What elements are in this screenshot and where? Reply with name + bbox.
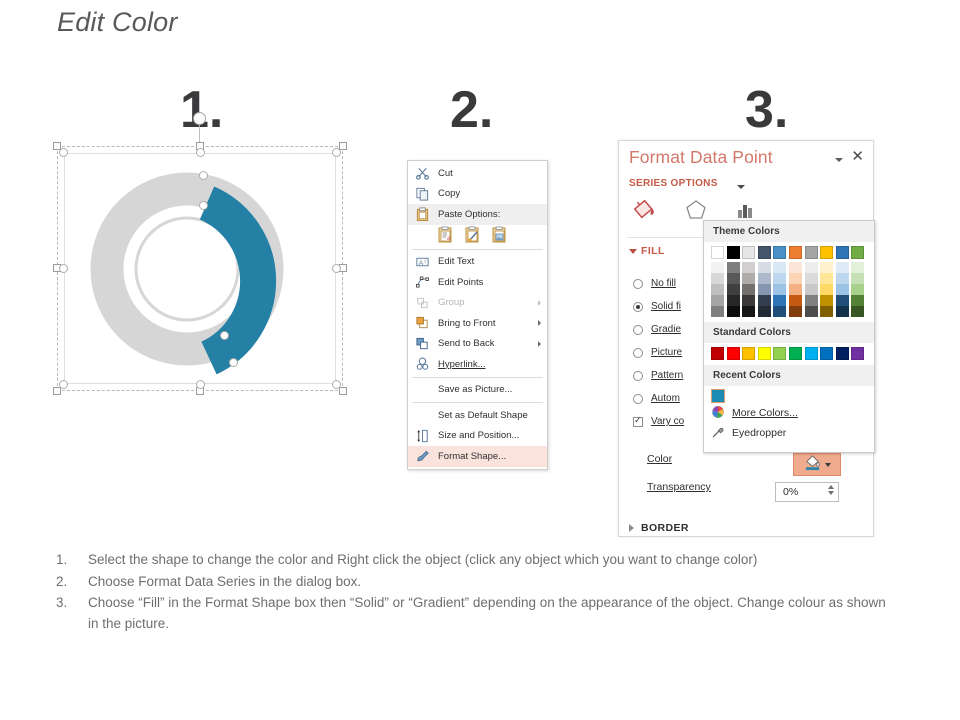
recent-colors-header: Recent Colors <box>704 365 874 386</box>
resize-handle-bottom-right[interactable] <box>339 387 347 395</box>
context-menu-item-save-as-picture[interactable]: Save as Picture... <box>408 380 547 401</box>
svg-text:A: A <box>419 260 424 267</box>
context-menu-label: Save as Picture... <box>438 384 512 395</box>
theme-color-shade-2-7[interactable] <box>820 284 833 295</box>
theme-color-shade-3-1[interactable] <box>727 295 740 306</box>
context-menu-item-edit-text[interactable]: A Edit Text <box>408 252 547 273</box>
standard-colors-grid[interactable] <box>704 343 874 362</box>
datapoint-handle-arc-end-outer[interactable] <box>229 358 238 367</box>
theme-color-swatch-2[interactable] <box>742 246 755 259</box>
fill-option-label: No fill <box>651 278 676 289</box>
inner-handle-bottom-right[interactable] <box>332 380 341 389</box>
theme-color-shade-row-2[interactable] <box>711 284 874 295</box>
fill-option-label: Solid fi <box>651 301 681 312</box>
theme-color-shade-4-8[interactable] <box>836 306 849 317</box>
theme-color-shade-1-2[interactable] <box>742 273 755 284</box>
vary-colors-by-point-checkbox[interactable]: Vary co <box>651 416 684 427</box>
paste-keep-source-formatting-icon[interactable]: a <box>436 226 454 244</box>
fill-option-label: Autom <box>651 393 680 404</box>
theme-color-shade-0-0[interactable] <box>711 262 724 273</box>
theme-colors-header: Theme Colors <box>704 221 874 242</box>
radio-icon[interactable] <box>633 394 643 404</box>
hyperlink-icon <box>415 357 430 372</box>
context-menu-item-copy[interactable]: Copy <box>408 184 547 205</box>
theme-color-swatch-3[interactable] <box>758 246 771 259</box>
theme-color-shade-3-6[interactable] <box>805 295 818 306</box>
context-menu[interactable]: Cut Copy Paste Options: <box>407 160 548 470</box>
bring-to-front-icon <box>415 316 430 331</box>
context-menu-item-hyperlink[interactable]: Hyperlink... <box>408 354 547 375</box>
theme-color-shade-1-4[interactable] <box>773 273 786 284</box>
radio-icon[interactable] <box>633 279 643 289</box>
context-menu-label: Send to Back <box>438 338 495 349</box>
fill-bucket-icon[interactable] <box>633 197 659 228</box>
theme-color-shade-row-3[interactable] <box>711 295 874 306</box>
context-menu-label: Group <box>438 297 464 308</box>
context-menu-item-edit-points[interactable]: Edit Points <box>408 272 547 293</box>
fill-option-automatic[interactable]: Autom <box>651 393 680 404</box>
fill-option-gradient-fill[interactable]: Gradie <box>651 324 681 335</box>
datapoint-handle-arc-start-outer[interactable] <box>199 171 208 180</box>
context-menu-label: Edit Text <box>438 256 474 267</box>
theme-colors-base-row[interactable] <box>711 246 874 259</box>
theme-color-shade-4-3[interactable] <box>758 306 771 317</box>
chevron-down-icon[interactable] <box>835 158 843 162</box>
chevron-right-icon <box>538 320 541 326</box>
context-menu-label: Paste Options: <box>438 209 500 220</box>
fill-option-label: Pattern <box>651 370 683 381</box>
theme-color-shade-4-9[interactable] <box>851 306 864 317</box>
theme-color-shade-1-3[interactable] <box>758 273 771 284</box>
eyedropper-item[interactable]: Eyedropper <box>704 423 874 443</box>
theme-color-shade-4-4[interactable] <box>773 306 786 317</box>
theme-color-shade-3-7[interactable] <box>820 295 833 306</box>
pane-title: Format Data Point <box>629 147 773 168</box>
paste-icon <box>415 207 430 222</box>
edit-points-icon <box>415 275 430 290</box>
theme-color-shade-1-1[interactable] <box>727 273 740 284</box>
context-menu-label: Size and Position... <box>438 430 519 441</box>
context-menu-label: Copy <box>438 188 460 199</box>
group-icon <box>415 295 430 310</box>
rotate-handle[interactable] <box>193 112 206 125</box>
recent-color-swatch[interactable] <box>711 389 725 403</box>
donut-chart-selection[interactable] <box>57 146 343 391</box>
radio-selected-icon[interactable] <box>633 302 643 312</box>
send-to-back-icon <box>415 336 430 351</box>
context-menu-item-group: Group <box>408 293 547 314</box>
theme-color-shade-2-5[interactable] <box>789 284 802 295</box>
theme-color-swatch-9[interactable] <box>851 246 864 259</box>
more-colors-label: More Colors... <box>732 407 798 419</box>
theme-color-shade-row-1[interactable] <box>711 273 874 284</box>
chevron-right-icon <box>538 341 541 347</box>
border-section-expand-icon[interactable] <box>629 524 634 532</box>
standard-color-swatch-3[interactable] <box>758 347 771 360</box>
instruction-number: 1. <box>56 550 88 571</box>
radio-icon[interactable] <box>633 371 643 381</box>
fill-option-solid-fill[interactable]: Solid fi <box>651 301 681 312</box>
donut-slice-highlighted <box>207 203 258 358</box>
theme-color-shade-0-3[interactable] <box>758 262 771 273</box>
fill-section-expand-icon[interactable] <box>629 249 637 254</box>
chevron-right-icon <box>538 300 541 306</box>
more-colors-icon <box>711 405 725 422</box>
eyedropper-label: Eyedropper <box>732 427 786 439</box>
paste-picture-icon[interactable] <box>490 226 508 244</box>
standard-color-swatch-8[interactable] <box>836 347 849 360</box>
inner-handle-middle-right[interactable] <box>332 264 341 273</box>
standard-colors-row[interactable] <box>711 347 874 360</box>
context-menu-item-cut[interactable]: Cut <box>408 163 547 184</box>
theme-color-swatch-1[interactable] <box>727 246 740 259</box>
fill-color-button[interactable] <box>793 453 841 476</box>
theme-color-shade-4-0[interactable] <box>711 306 724 317</box>
theme-color-shade-2-9[interactable] <box>851 284 864 295</box>
theme-color-shade-2-8[interactable] <box>836 284 849 295</box>
context-menu-item-set-as-default-shape[interactable]: Set as Default Shape <box>408 405 547 426</box>
context-menu-item-bring-to-front[interactable]: Bring to Front <box>408 313 547 334</box>
theme-colors-shade-rows[interactable] <box>711 262 874 317</box>
theme-color-swatch-8[interactable] <box>836 246 849 259</box>
format-shape-icon <box>415 449 430 464</box>
theme-color-swatch-7[interactable] <box>820 246 833 259</box>
size-position-icon <box>415 428 430 443</box>
theme-color-shade-2-3[interactable] <box>758 284 771 295</box>
vary-colors-label: Vary co <box>651 416 684 427</box>
theme-color-shade-4-5[interactable] <box>789 306 802 317</box>
theme-color-shade-3-4[interactable] <box>773 295 786 306</box>
theme-color-shade-0-1[interactable] <box>727 262 740 273</box>
fill-option-label: Picture <box>651 347 682 358</box>
instruction-number: 3. <box>56 593 88 634</box>
fill-section-header[interactable]: FILL <box>641 245 665 257</box>
close-icon[interactable]: ✕ <box>851 149 864 164</box>
spinner-down-icon[interactable] <box>828 491 834 495</box>
theme-color-shade-2-0[interactable] <box>711 284 724 295</box>
instruction-number: 2. <box>56 572 88 593</box>
context-menu-separator <box>412 402 543 403</box>
theme-color-shade-1-7[interactable] <box>820 273 833 284</box>
theme-color-shade-0-2[interactable] <box>742 262 755 273</box>
donut-chart-svg <box>57 146 343 391</box>
color-row-label: Color <box>647 453 672 465</box>
instruction-item: 1. Select the shape to change the color … <box>56 550 886 571</box>
theme-color-shade-1-0[interactable] <box>711 273 724 284</box>
spinner-up-icon[interactable] <box>828 485 834 489</box>
context-menu-item-paste-options: Paste Options: <box>408 204 547 225</box>
inner-handle-bottom-center[interactable] <box>196 380 205 389</box>
theme-color-shade-0-5[interactable] <box>789 262 802 273</box>
theme-color-shade-3-2[interactable] <box>742 295 755 306</box>
more-colors-item[interactable]: More Colors... <box>704 403 874 423</box>
theme-color-swatch-6[interactable] <box>805 246 818 259</box>
instruction-item: 3. Choose “Fill” in the Format Shape box… <box>56 593 886 634</box>
recent-colors-grid[interactable] <box>704 386 874 403</box>
theme-color-shade-1-8[interactable] <box>836 273 849 284</box>
theme-color-shade-3-3[interactable] <box>758 295 771 306</box>
theme-color-shade-3-8[interactable] <box>836 295 849 306</box>
paste-merge-formatting-icon[interactable] <box>463 226 481 244</box>
theme-color-shade-0-7[interactable] <box>820 262 833 273</box>
context-menu-item-send-to-back[interactable]: Send to Back <box>408 334 547 355</box>
instructions-list: 1. Select the shape to change the color … <box>56 550 886 635</box>
standard-color-swatch-0[interactable] <box>711 347 724 360</box>
theme-color-swatch-0[interactable] <box>711 246 724 259</box>
series-options-label[interactable]: SERIES OPTIONS <box>629 178 718 189</box>
theme-color-shade-2-6[interactable] <box>805 284 818 295</box>
theme-color-shade-row-4[interactable] <box>711 306 874 317</box>
paste-options-row[interactable]: a <box>408 225 547 247</box>
step-number-1: 1. <box>180 84 223 136</box>
context-menu-separator <box>412 249 543 250</box>
standard-color-swatch-6[interactable] <box>805 347 818 360</box>
copy-icon <box>415 186 430 201</box>
step-number-3: 3. <box>745 84 788 136</box>
context-menu-label: Set as Default Shape <box>438 410 528 421</box>
theme-color-shade-2-4[interactable] <box>773 284 786 295</box>
fill-color-icon <box>803 454 822 476</box>
edit-text-icon: A <box>415 254 430 269</box>
scissors-icon <box>415 166 430 181</box>
inner-handle-top-left[interactable] <box>59 148 68 157</box>
page-title: Edit Color <box>57 7 178 38</box>
series-options-chevron-down-icon[interactable] <box>737 185 745 189</box>
theme-color-swatch-5[interactable] <box>789 246 802 259</box>
radio-icon[interactable] <box>633 325 643 335</box>
theme-color-shade-3-0[interactable] <box>711 295 724 306</box>
context-menu-item-format-shape[interactable]: Format Shape... <box>408 446 547 467</box>
theme-color-swatch-4[interactable] <box>773 246 786 259</box>
theme-color-shade-0-4[interactable] <box>773 262 786 273</box>
context-menu-label: Cut <box>438 168 453 179</box>
theme-color-shade-1-6[interactable] <box>805 273 818 284</box>
theme-color-shade-4-2[interactable] <box>742 306 755 317</box>
spinner-arrows[interactable] <box>828 485 834 495</box>
transparency-row-label: Transparency <box>647 481 711 493</box>
context-menu-label: Edit Points <box>438 277 483 288</box>
theme-color-shade-3-5[interactable] <box>789 295 802 306</box>
datapoint-handle-arc-end-inner[interactable] <box>220 331 229 340</box>
context-menu-item-size-and-position[interactable]: Size and Position... <box>408 426 547 447</box>
datapoint-handle-arc-start-inner[interactable] <box>199 201 208 210</box>
context-menu-label: Hyperlink... <box>438 359 486 370</box>
theme-color-shade-1-9[interactable] <box>851 273 864 284</box>
context-menu-label: Bring to Front <box>438 318 496 329</box>
chevron-down-icon[interactable] <box>825 463 831 467</box>
checkbox-checked-icon[interactable] <box>633 417 643 427</box>
step-number-2: 2. <box>450 84 493 136</box>
theme-color-shade-0-9[interactable] <box>851 262 864 273</box>
theme-color-shade-2-2[interactable] <box>742 284 755 295</box>
donut-chart[interactable] <box>57 146 343 391</box>
theme-color-shade-0-8[interactable] <box>836 262 849 273</box>
instruction-item: 2. Choose Format Data Series in the dial… <box>56 572 886 593</box>
instruction-text: Choose “Fill” in the Format Shape box th… <box>88 593 886 634</box>
border-section-header[interactable]: BORDER <box>641 522 689 534</box>
theme-color-shade-row-0[interactable] <box>711 262 874 273</box>
theme-color-shade-3-9[interactable] <box>851 295 864 306</box>
theme-color-shade-4-7[interactable] <box>820 306 833 317</box>
standard-color-swatch-4[interactable] <box>773 347 786 360</box>
standard-color-swatch-7[interactable] <box>820 347 833 360</box>
instruction-text: Choose Format Data Series in the dialog … <box>88 572 886 593</box>
theme-colors-grid[interactable] <box>704 242 874 319</box>
fill-option-no-fill[interactable]: No fill <box>651 278 676 289</box>
fill-option-pattern-fill[interactable]: Pattern <box>651 370 683 381</box>
inner-handle-middle-left[interactable] <box>59 264 68 273</box>
standard-color-swatch-9[interactable] <box>851 347 864 360</box>
standard-color-swatch-1[interactable] <box>727 347 740 360</box>
context-menu-separator <box>412 377 543 378</box>
standard-color-swatch-5[interactable] <box>789 347 802 360</box>
radio-icon[interactable] <box>633 348 643 358</box>
color-picker-popup[interactable]: Theme Colors Standard Colors Recent Colo… <box>703 220 875 453</box>
eyedropper-icon <box>711 425 725 442</box>
inner-handle-top-right[interactable] <box>332 148 341 157</box>
context-menu-label: Format Shape... <box>438 451 506 462</box>
standard-colors-header: Standard Colors <box>704 322 874 343</box>
theme-color-shade-4-1[interactable] <box>727 306 740 317</box>
fill-option-picture-fill[interactable]: Picture <box>651 347 682 358</box>
theme-color-shade-2-1[interactable] <box>727 284 740 295</box>
resize-handle-top-right[interactable] <box>339 142 347 150</box>
fill-option-label: Gradie <box>651 324 681 335</box>
standard-color-swatch-2[interactable] <box>742 347 755 360</box>
inner-handle-bottom-left[interactable] <box>59 380 68 389</box>
theme-color-shade-0-6[interactable] <box>805 262 818 273</box>
inner-handle-top-center[interactable] <box>196 148 205 157</box>
instruction-text: Select the shape to change the color and… <box>88 550 886 571</box>
theme-color-shade-1-5[interactable] <box>789 273 802 284</box>
resize-handle-bottom-left[interactable] <box>53 387 61 395</box>
transparency-spinner[interactable]: 0% <box>775 482 839 502</box>
transparency-value: 0% <box>783 486 798 498</box>
theme-color-shade-4-6[interactable] <box>805 306 818 317</box>
